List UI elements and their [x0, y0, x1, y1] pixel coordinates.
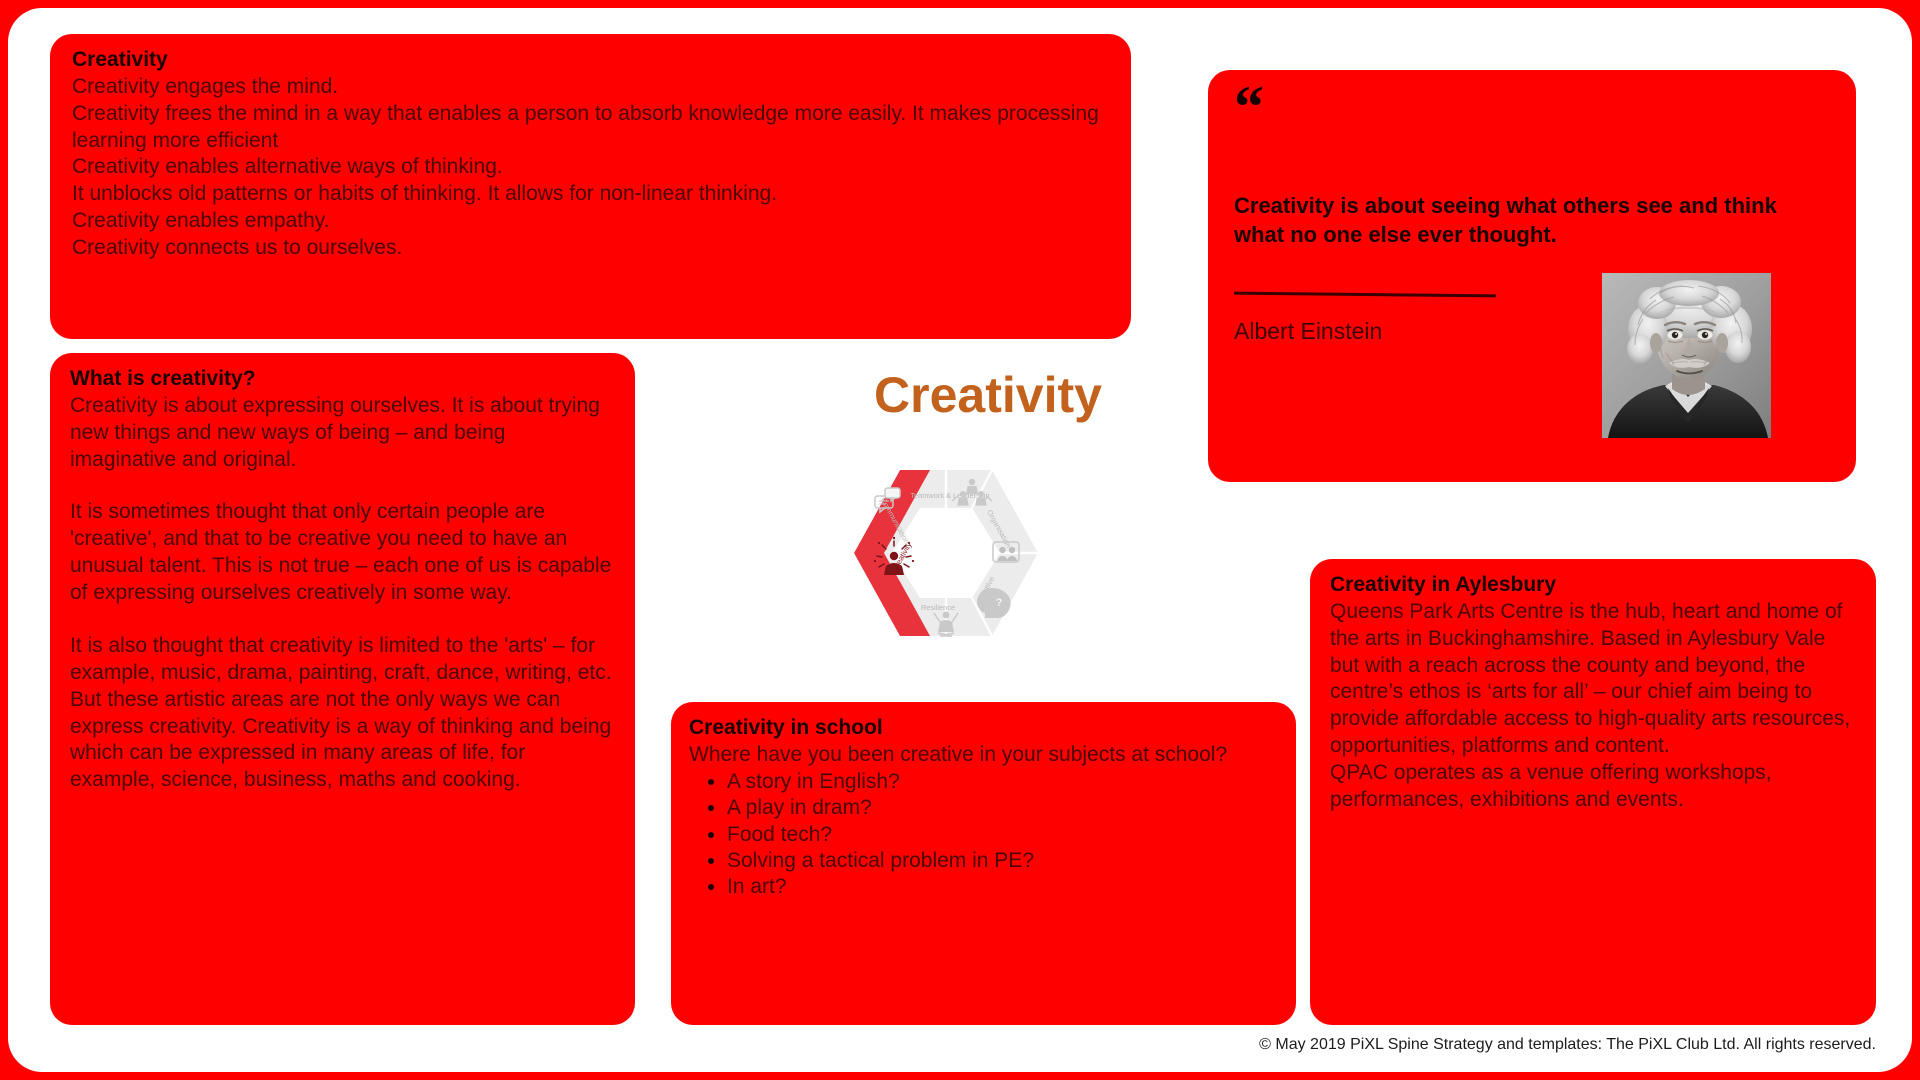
- page-title: Creativity: [668, 366, 1308, 424]
- intro-line: Creativity connects us to ourselves.: [72, 235, 1109, 262]
- pixl-spine-hexagon-logo: Communication Teamwork & Leadership Orga…: [846, 460, 1046, 646]
- quote-mark-icon: “: [1234, 86, 1830, 142]
- aylesbury-paragraph: Queens Park Arts Centre is the hub, hear…: [1330, 599, 1856, 760]
- paragraph-spacer: [70, 607, 615, 633]
- card-school-intro: Where have you been creative in your sub…: [689, 742, 1278, 769]
- card-what-is-creativity: What is creativity? Creativity is about …: [50, 353, 635, 1025]
- card-school-title: Creativity in school: [689, 716, 1278, 741]
- card-aylesbury-title: Creativity in Aylesbury: [1330, 573, 1856, 598]
- list-item: A story in English?: [727, 769, 1278, 795]
- quote-text: Creativity is about seeing what others s…: [1234, 192, 1830, 249]
- svg-text:?: ?: [996, 597, 1003, 609]
- footer-copyright: © May 2019 PiXL Spine Strategy and templ…: [1259, 1036, 1876, 1054]
- list-item: In art?: [727, 874, 1278, 900]
- intro-line: It unblocks old patterns or habits of th…: [72, 181, 1109, 208]
- what-paragraph: Creativity is about expressing ourselves…: [70, 393, 615, 474]
- list-item: Food tech?: [727, 822, 1278, 848]
- albert-einstein-portrait: [1602, 273, 1771, 438]
- paragraph-spacer: [70, 473, 615, 499]
- school-list: A story in English? A play in dram? Food…: [689, 769, 1278, 901]
- intro-line: Creativity frees the mind in a way that …: [72, 101, 1109, 155]
- intro-line: Creativity enables alternative ways of t…: [72, 154, 1109, 181]
- intro-line: Creativity enables empathy.: [72, 208, 1109, 235]
- list-item: Solving a tactical problem in PE?: [727, 848, 1278, 874]
- card-creativity-in-aylesbury: Creativity in Aylesbury Queens Park Arts…: [1310, 559, 1876, 1025]
- card-what-title: What is creativity?: [70, 367, 615, 392]
- what-paragraph: It is also thought that creativity is li…: [70, 633, 615, 794]
- quote-divider: [1234, 292, 1496, 298]
- aylesbury-paragraph: QPAC operates as a venue offering worksh…: [1330, 760, 1856, 814]
- spine-label-resilience: Resilience: [921, 603, 955, 612]
- card-creativity-in-school: Creativity in school Where have you been…: [671, 702, 1296, 1025]
- card-intro-title: Creativity: [72, 48, 1109, 73]
- intro-line: Creativity engages the mind.: [72, 74, 1109, 101]
- card-aylesbury-body: Queens Park Arts Centre is the hub, hear…: [1330, 599, 1856, 814]
- page-frame: Creativity Creativity engages the mind. …: [8, 8, 1912, 1072]
- poster-page: Creativity Creativity engages the mind. …: [0, 0, 1920, 1080]
- card-creativity-intro: Creativity Creativity engages the mind. …: [50, 34, 1131, 339]
- card-what-body: Creativity is about expressing ourselves…: [70, 393, 615, 794]
- list-item: A play in dram?: [727, 795, 1278, 821]
- card-intro-body: Creativity engages the mind. Creativity …: [72, 74, 1109, 262]
- what-paragraph: It is sometimes thought that only certai…: [70, 499, 615, 607]
